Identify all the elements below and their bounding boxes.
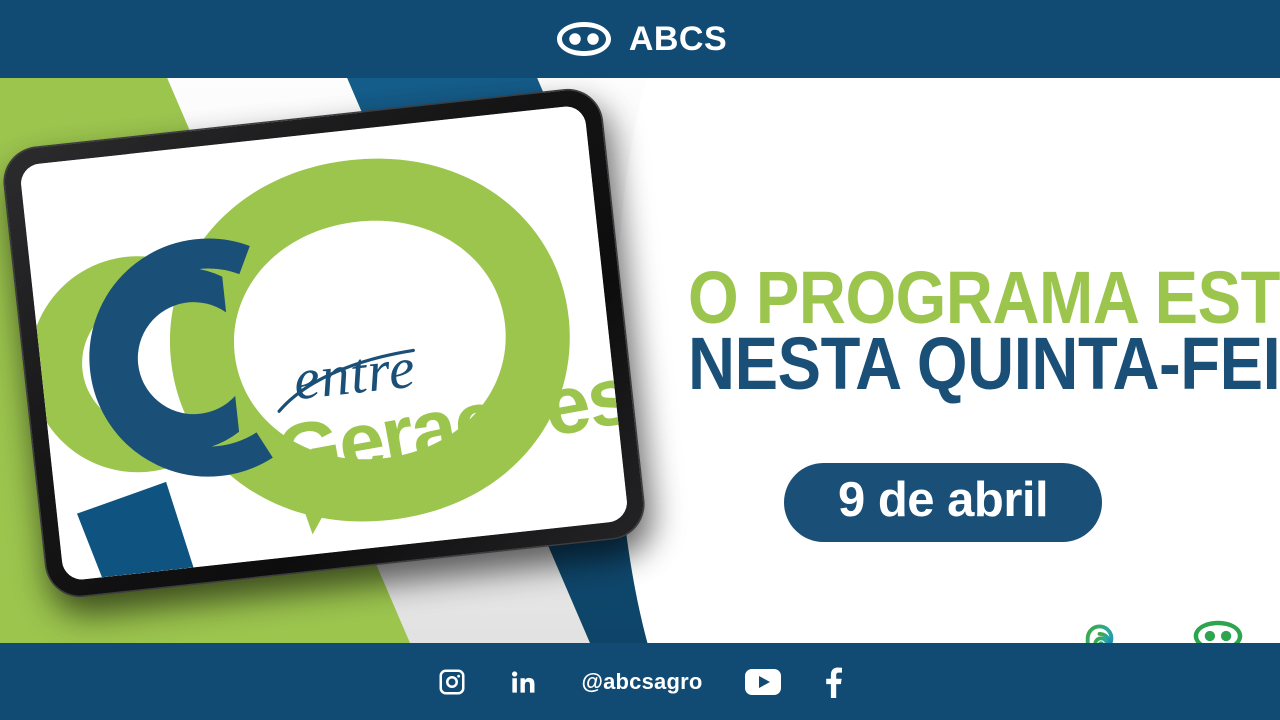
partner-logo-canal-rural: CANALRURAL — [1058, 622, 1150, 643]
tablet-screen: entre Gerações — [19, 105, 629, 582]
headline-line-1: O PROGRAMA ESTREIA — [688, 266, 1198, 330]
tablet-bezel: entre Gerações — [1, 87, 646, 599]
instagram-icon[interactable] — [437, 667, 467, 697]
social-handle[interactable]: @abcsagro — [581, 669, 702, 695]
program-logo-artwork: entre Gerações — [19, 105, 629, 582]
abcs-pig-snout-icon — [1189, 618, 1247, 643]
headline: O PROGRAMA ESTREIA NESTA QUINTA-FEIRA, — [688, 266, 1268, 395]
headline-line-2: NESTA QUINTA-FEIRA, — [688, 332, 1198, 396]
tablet-device: entre Gerações — [1, 87, 646, 599]
abcs-brand-lockup: ABCS — [553, 19, 727, 59]
top-header-bar: ABCS — [0, 0, 1280, 78]
abcs-pig-snout-icon — [553, 19, 615, 59]
promo-banner: ABCS — [0, 0, 1280, 720]
credits-row: UM PROJETO: — [875, 618, 1260, 643]
date-badge: 9 de abril — [784, 463, 1102, 542]
message-column: O PROGRAMA ESTREIA NESTA QUINTA-FEIRA, 9… — [660, 156, 1280, 643]
canal-rural-r-icon — [1080, 622, 1128, 643]
date-badge-label: 9 de abril — [838, 473, 1048, 527]
banner-body: entre Gerações O PROGRAMA ESTREIA NESTA … — [0, 78, 1280, 643]
social-links: @abcsagro — [437, 666, 842, 698]
linkedin-icon[interactable] — [509, 667, 539, 697]
facebook-icon[interactable] — [823, 666, 843, 698]
abcs-brand-wordmark: ABCS — [629, 22, 727, 56]
footer-social-bar: @abcsagro — [0, 643, 1280, 720]
youtube-icon[interactable] — [745, 669, 781, 695]
partner-logo-abcs: ABCS ASSOCIAÇÃO BRASILEIRA DOS CRIADORES… — [1176, 618, 1260, 643]
